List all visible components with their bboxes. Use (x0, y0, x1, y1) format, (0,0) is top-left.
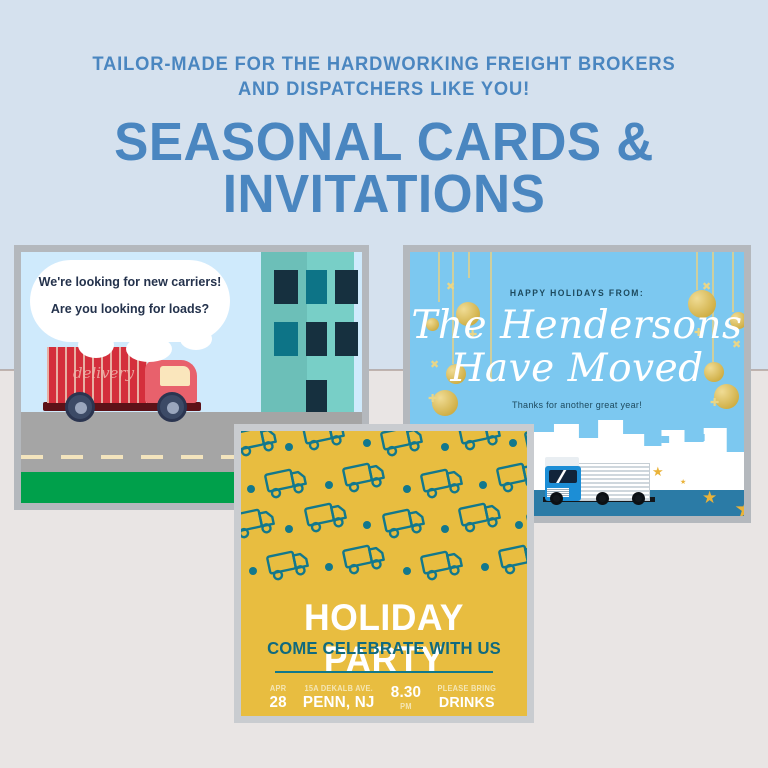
card2-footer-note: Thanks for another great year! (410, 400, 744, 410)
truck-wheel (596, 492, 609, 505)
truck-wheel (157, 392, 187, 422)
gold-star-icon: ★ (652, 464, 664, 480)
building-window (306, 322, 327, 356)
bubble-line-2: Are you looking for loads? (30, 296, 230, 323)
truck-wheel (632, 492, 645, 505)
truck-wheel (550, 492, 563, 505)
truck-script-label: delivery (73, 364, 133, 382)
detail-address-city: PENN, NJ (303, 694, 375, 712)
card2-eyebrow: HAPPY HOLIDAYS FROM: (427, 288, 728, 299)
detail-time-meridiem: PM (391, 702, 420, 712)
detail-bring-label: PLEASE BRING (438, 684, 497, 694)
truck-pattern-svg (241, 431, 527, 591)
speech-bubble-text: We're looking for new carriers! Are you … (30, 269, 230, 323)
detail-time: 8.30 PM (390, 684, 422, 712)
bubble-line-1: We're looking for new carriers! (30, 269, 230, 296)
family-name-line-2: Have Moved (410, 347, 744, 390)
building-window (306, 380, 327, 413)
building-window (274, 270, 298, 304)
detail-address: 15A DEKALB AVE. PENN, NJ (301, 684, 376, 712)
card2-family-name: The Hendersons Have Moved (410, 304, 744, 390)
ornament-string (468, 252, 470, 278)
truck-pattern-band (241, 431, 527, 591)
gold-star-icon: ★ (702, 488, 717, 508)
building-window (274, 322, 298, 356)
poster-canvas: TAILOR-MADE FOR THE HARDWORKING FREIGHT … (0, 0, 768, 768)
building-window (306, 270, 327, 304)
party-subtitle: COME CELEBRATE WITH US (248, 638, 520, 659)
ornament-string (696, 252, 698, 290)
detail-bring-value: DRINKS (437, 694, 497, 712)
party-divider (275, 671, 493, 673)
family-name-line-1: The Hendersons (410, 304, 744, 347)
detail-address-street: 15A DEKALB AVE. (304, 684, 373, 694)
card-holiday-party[interactable]: HOLIDAY PARTY COME CELEBRATE WITH US APR… (234, 424, 534, 723)
truck-windshield (160, 366, 190, 386)
gold-star-icon: ★ (734, 494, 751, 523)
building-window (335, 270, 358, 304)
detail-date-label: APR (270, 684, 287, 694)
detail-bring: PLEASE BRING DRINKS (435, 684, 499, 712)
detail-date-value: 28 (269, 694, 286, 712)
building-window (335, 322, 358, 356)
gold-star-icon: ★ (680, 478, 686, 486)
detail-date: APR 28 (269, 684, 287, 712)
truck-wheel (65, 392, 95, 422)
party-details-row: APR 28 15A DEKALB AVE. PENN, NJ 8.30 PM … (269, 684, 499, 712)
detail-time-value: 8.30 (391, 684, 421, 702)
truck-windshield (549, 470, 577, 483)
